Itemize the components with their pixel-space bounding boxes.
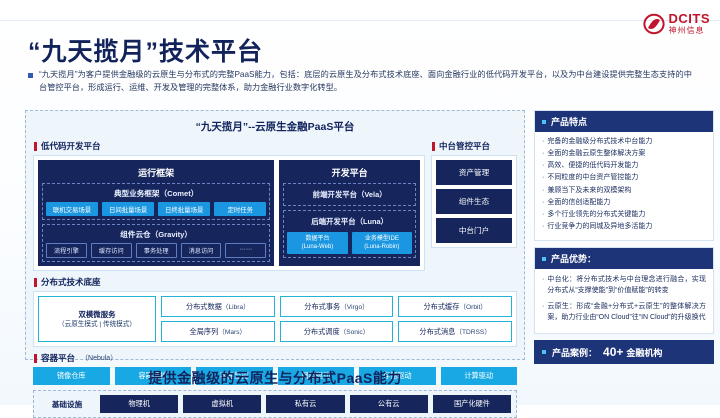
dot-bullet-icon: ·: [542, 161, 544, 172]
intro-paragraph: “九天揽月”为客户提供金融级的云原生与分布式的完整PaaS能力，包括：底层的云原…: [28, 68, 692, 95]
dot-bullet-icon: ·: [542, 301, 544, 324]
feature-text: 完备的金融级分布式技术中台能力: [547, 137, 652, 148]
comet-pill-row: 联机交易场景 日间批量场景 日终批量场景 定时任务: [46, 202, 266, 216]
dev-platform-box[interactable]: 开发平台 前端开发平台（Vela） 后端开发平台（Luna） 数据平台 (Lun…: [279, 160, 420, 266]
backend-dev-group: 后端开发平台（Luna） 数据平台 (Luna-Web) 业务模型IDE (Lu…: [283, 210, 416, 258]
product-features-header: 产品特点: [535, 111, 713, 132]
brand-logo: DCITS 神州信息: [643, 12, 711, 35]
base-section-title: 分布式技术底座: [41, 276, 101, 288]
brand-name-cn: 神州信息: [669, 27, 711, 35]
top-layer-row: 低代码开发平台 运行框架 典型业务框架（Comet） 联机交易场景 日间批量场景…: [33, 140, 517, 271]
feature-text: 不同粒度的中台资产管控能力: [547, 173, 638, 184]
product-case-label: 产品案例：: [552, 346, 597, 359]
base-cell-name: 全局序列: [190, 327, 219, 336]
feature-item: ·全面的金融云原生整体解决方案: [542, 149, 706, 160]
comet-pill[interactable]: 日终批量场景: [158, 202, 210, 216]
dot-bullet-icon: ·: [542, 173, 544, 184]
base-cell-code: （Libra）: [222, 304, 250, 311]
gravity-pill[interactable]: 缓存访问: [91, 243, 132, 258]
gravity-group: 组件云仓（Gravity） 流程引擎 缓存访问 事务处理 消息访问 ⋯⋯: [42, 224, 270, 262]
base-cell-code: （Sonic）: [340, 329, 370, 336]
base-cell-name: 分布式消息: [419, 327, 455, 336]
product-advantages-header: 产品优势：: [535, 248, 713, 269]
base-cell-code: （Mars）: [218, 329, 246, 336]
page-title: “九天揽月”技术平台: [28, 32, 263, 68]
base-cell-name: 分布式数据: [186, 302, 222, 311]
advantage-text: 云原生：形成“金融+分布式+云原生”的整体解决方案，助力行业由“ON Cloud…: [547, 301, 706, 324]
comet-pill[interactable]: 定时任务: [214, 202, 266, 216]
comet-group: 典型业务框架（Comet） 联机交易场景 日间批量场景 日终批量场景 定时任务: [42, 183, 270, 220]
brand-name-en: DCITS: [669, 12, 711, 25]
base-cell-column: 分布式事务（Virgo） 分布式调度（Sonic）: [280, 296, 394, 342]
base-cell[interactable]: 分布式调度（Sonic）: [280, 321, 394, 342]
product-advantages-title: 产品优势：: [551, 252, 596, 265]
feature-text: 高效、便捷的低代码开发能力: [547, 161, 638, 172]
gravity-pill[interactable]: 消息访问: [181, 243, 222, 258]
container-section-title: 容器平台: [41, 352, 75, 364]
base-cell-grid: 分布式数据（Libra） 全局序列（Mars） 分布式事务（Virgo） 分布式…: [161, 296, 512, 342]
product-advantages-card: 产品优势： ·中台化：将分布式技术与中台理念进行融合，实现分布式从“支撑使能”到…: [534, 247, 714, 334]
comet-pill[interactable]: 联机交易场景: [46, 202, 98, 216]
feature-item: ·全面的信创适配能力: [542, 198, 706, 209]
backend-dev-pill[interactable]: 数据平台 (Luna-Web): [287, 232, 347, 254]
gravity-pill[interactable]: 事务处理: [136, 243, 177, 258]
backend-pill-name: 数据平台: [305, 236, 329, 242]
feature-text: 全面的金融云原生整体解决方案: [547, 149, 645, 160]
lowcode-section-title: 低代码开发平台: [41, 140, 101, 152]
section-accent-bar-icon: [34, 278, 37, 287]
comet-title: 典型业务框架（Comet）: [46, 187, 266, 202]
feature-item: ·行业竞争力的同城及异地多活能力: [542, 222, 706, 233]
runtime-framework-box[interactable]: 运行框架 典型业务框架（Comet） 联机交易场景 日间批量场景 日终批量场景 …: [38, 160, 274, 266]
base-panel: 双模微服务 （云原生模式 | 传统模式） 分布式数据（Libra） 全局序列（M…: [33, 291, 517, 347]
diagram-title: “九天揽月”--云原生金融PaaS平台: [33, 116, 517, 140]
base-cell[interactable]: 全局序列（Mars）: [161, 321, 275, 342]
product-features-card: 产品特点 ·完备的金融级分布式技术中台能力 ·全面的金融云原生整体解决方案 ·高…: [534, 110, 714, 241]
square-marker-icon: [542, 350, 546, 354]
backend-pill-code: (Luna-Robin): [364, 244, 399, 250]
base-cell-code: （Virgo）: [340, 304, 368, 311]
backend-pill-name: 业务模型IDE: [365, 236, 399, 242]
feature-text: 行业竞争力的同城及异地多活能力: [547, 222, 652, 233]
architecture-diagram: “九天揽月”--云原生金融PaaS平台 低代码开发平台 运行框架 典型业务框架（…: [25, 110, 525, 360]
dot-bullet-icon: ·: [542, 222, 544, 233]
gravity-pill-row: 流程引擎 缓存访问 事务处理 消息访问 ⋯⋯: [46, 243, 266, 258]
base-cell[interactable]: 分布式消息（TDRSS）: [398, 321, 512, 342]
infrastructure-item[interactable]: 物理机: [100, 395, 178, 413]
dot-bullet-icon: ·: [542, 186, 544, 197]
product-case-banner: 产品案例： 40+ 金融机构: [534, 340, 714, 364]
base-cell-code: （Orbit）: [459, 304, 486, 311]
dual-mode-subtitle: （云原生模式 | 传统模式）: [58, 320, 136, 330]
dev-platform-title: 开发平台: [283, 164, 416, 183]
right-rail: 产品特点 ·完备的金融级分布式技术中台能力 ·全面的金融云原生整体解决方案 ·高…: [534, 110, 714, 364]
frontend-dev-group: 前端开发平台（Vela）: [283, 183, 416, 206]
feature-item: ·多个行业领先的分布式关键能力: [542, 210, 706, 221]
feature-item: ·高效、便捷的低代码开发能力: [542, 161, 706, 172]
feature-text: 多个行业领先的分布式关键能力: [547, 210, 645, 221]
advantage-item: ·云原生：形成“金融+分布式+云原生”的整体解决方案，助力行业由“ON Clou…: [542, 301, 706, 324]
base-cell[interactable]: 分布式缓存（Orbit）: [398, 296, 512, 317]
distributed-base-block: 分布式技术底座 双模微服务 （云原生模式 | 传统模式） 分布式数据（Libra…: [33, 276, 517, 347]
base-cell-name: 分布式事务: [304, 302, 340, 311]
feature-item: ·完备的金融级分布式技术中台能力: [542, 137, 706, 148]
base-cell-column: 分布式数据（Libra） 全局序列（Mars）: [161, 296, 275, 342]
section-accent-bar-icon: [432, 142, 435, 151]
dcits-swirl-icon: [643, 13, 665, 35]
comet-pill[interactable]: 日间批量场景: [102, 202, 154, 216]
backend-dev-pill-row: 数据平台 (Luna-Web) 业务模型IDE (Luna-Robin): [287, 232, 412, 254]
product-case-unit: 金融机构: [626, 346, 662, 359]
gravity-pill-more[interactable]: ⋯⋯: [225, 243, 266, 258]
section-accent-bar-icon: [34, 142, 37, 151]
product-features-title: 产品特点: [551, 115, 587, 128]
feature-text: 全面的信创适配能力: [547, 198, 610, 209]
midctl-item[interactable]: 资产管理: [436, 160, 512, 185]
product-advantages-body: ·中台化：将分布式技术与中台理念进行融合，实现分布式从“支撑使能”到“价值赋能”…: [535, 269, 713, 333]
midctl-platform-block: 中台管控平台 资产管理 组件生态 中台门户: [431, 140, 517, 271]
base-row: 双模微服务 （云原生模式 | 传统模式） 分布式数据（Libra） 全局序列（M…: [38, 296, 512, 342]
dual-mode-microservice-box[interactable]: 双模微服务 （云原生模式 | 传统模式）: [38, 296, 156, 342]
base-cell-column: 分布式缓存（Orbit） 分布式消息（TDRSS）: [398, 296, 512, 342]
midctl-item[interactable]: 中台门户: [436, 218, 512, 243]
base-section-header: 分布式技术底座: [34, 276, 517, 288]
base-cell[interactable]: 分布式事务（Virgo）: [280, 296, 394, 317]
dot-bullet-icon: ·: [542, 198, 544, 209]
product-features-body: ·完备的金融级分布式技术中台能力 ·全面的金融云原生整体解决方案 ·高效、便捷的…: [535, 132, 713, 240]
square-marker-icon: [542, 120, 546, 124]
dot-bullet-icon: ·: [542, 274, 544, 297]
advantage-text: 中台化：将分布式技术与中台理念进行融合，实现分布式从“支撑使能”到“价值赋能”的…: [547, 274, 706, 297]
dot-bullet-icon: ·: [542, 149, 544, 160]
diagram-tagline: 提供金融级的云原生与分布式PaaS能力: [25, 368, 525, 388]
backend-dev-label: 后端开发平台（Luna）: [287, 214, 412, 229]
feature-text: 兼顾当下及未来的双模架构: [547, 186, 631, 197]
infrastructure-item[interactable]: 虚拟机: [183, 395, 261, 413]
backend-pill-code: (Luna-Web): [302, 244, 334, 250]
slide-root: DCITS 神州信息 “九天揽月”技术平台 “九天揽月”为客户提供金融级的云原生…: [0, 0, 720, 405]
section-accent-bar-icon: [34, 354, 37, 363]
dot-bullet-icon: ·: [542, 210, 544, 221]
infrastructure-item[interactable]: 公有云: [350, 395, 428, 413]
infrastructure-item[interactable]: 私有云: [266, 395, 344, 413]
frontend-dev-label: 前端开发平台（Vela）: [287, 187, 412, 202]
lowcode-platform-block: 低代码开发平台 运行框架 典型业务框架（Comet） 联机交易场景 日间批量场景…: [33, 140, 425, 271]
dual-mode-title: 双模微服务: [79, 309, 116, 320]
container-section-header: 容器平台 （Nebula）: [34, 352, 517, 364]
product-case-number: 40+: [603, 345, 623, 359]
container-section-code: （Nebula）: [81, 353, 117, 363]
feature-item: ·兼顾当下及未来的双模架构: [542, 186, 706, 197]
feature-item: ·不同粒度的中台资产管控能力: [542, 173, 706, 184]
gravity-title: 组件云仓（Gravity）: [46, 228, 266, 243]
square-bullet-icon: [28, 73, 33, 78]
infrastructure-label: 基础设施: [39, 399, 95, 410]
gravity-pill[interactable]: 流程引擎: [46, 243, 87, 258]
base-cell-name: 分布式调度: [304, 327, 340, 336]
header-divider: [0, 20, 720, 21]
runtime-framework-title: 运行框架: [42, 164, 270, 183]
midctl-panel: 资产管理 组件生态 中台门户: [431, 155, 517, 248]
infrastructure-row: 基础设施 物理机 虚拟机 私有云 公有云 国产化硬件: [33, 390, 517, 418]
midctl-section-header: 中台管控平台: [432, 140, 517, 152]
dot-bullet-icon: ·: [542, 137, 544, 148]
base-cell[interactable]: 分布式数据（Libra）: [161, 296, 275, 317]
midctl-section-title: 中台管控平台: [439, 140, 490, 152]
infrastructure-item[interactable]: 国产化硬件: [433, 395, 511, 413]
lowcode-section-header: 低代码开发平台: [34, 140, 425, 152]
backend-dev-pill[interactable]: 业务模型IDE (Luna-Robin): [352, 232, 412, 254]
base-cell-name: 分布式缓存: [423, 302, 459, 311]
square-marker-icon: [542, 257, 546, 261]
intro-text: “九天揽月”为客户提供金融级的云原生与分布式的完整PaaS能力，包括：底层的云原…: [39, 68, 692, 95]
midctl-item[interactable]: 组件生态: [436, 189, 512, 214]
advantage-item: ·中台化：将分布式技术与中台理念进行融合，实现分布式从“支撑使能”到“价值赋能”…: [542, 274, 706, 297]
lowcode-panel: 运行框架 典型业务框架（Comet） 联机交易场景 日间批量场景 日终批量场景 …: [33, 155, 425, 271]
base-cell-code: （TDRSS）: [455, 329, 491, 336]
